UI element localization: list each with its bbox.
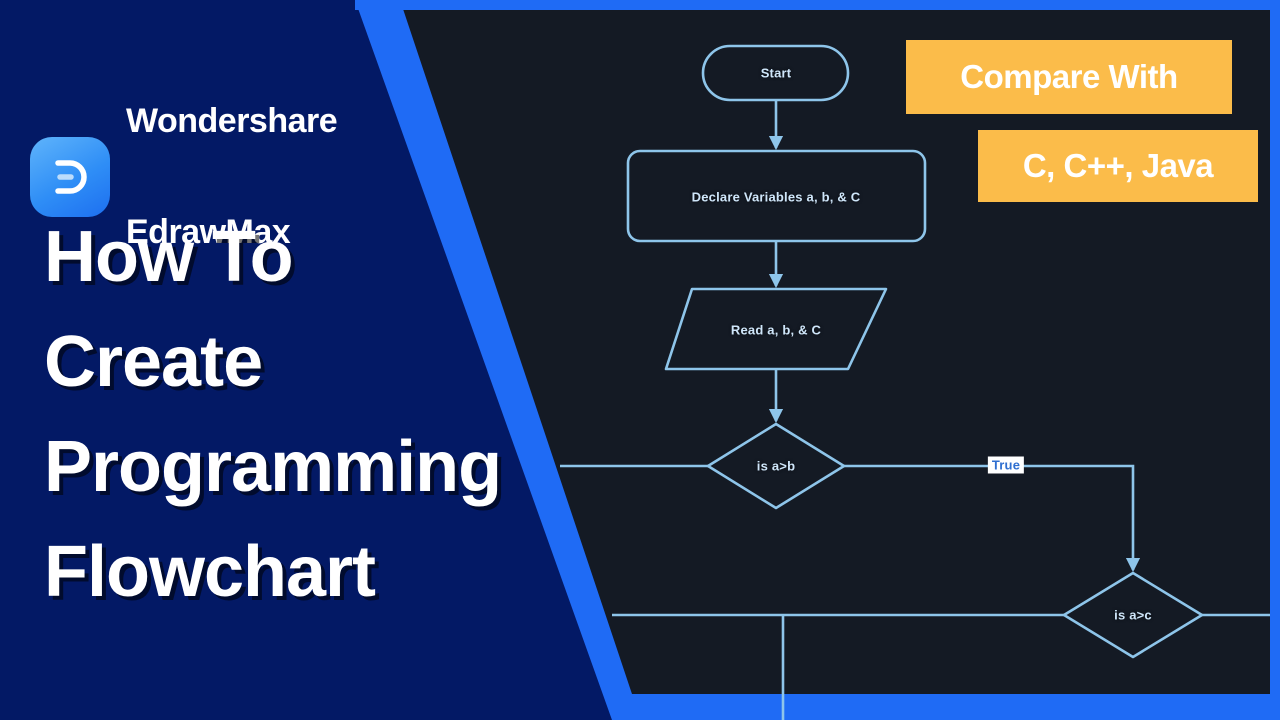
title-line-3: Programming [44, 415, 604, 520]
brand-company: Wondershare [126, 103, 337, 140]
node-decision-ab-label: is a>b [757, 459, 795, 474]
badge-compare-with: Compare With [906, 40, 1232, 114]
node-start-label: Start [761, 66, 792, 81]
top-accent-bar [355, 0, 1280, 10]
title-line-1: How To [44, 205, 604, 310]
edge-label-true: True [988, 457, 1024, 474]
badge-languages: C, C++, Java [978, 130, 1258, 202]
page-title: How To Create Programming Flowchart [44, 205, 604, 625]
title-line-4: Flowchart [44, 520, 604, 625]
node-declare-label: Declare Variables a, b, & C [692, 190, 861, 205]
video-thumbnail: Wondershare EdrawMax How To Create Progr… [0, 0, 1280, 720]
node-read-label: Read a, b, & C [731, 323, 821, 338]
right-accent-bar [1270, 0, 1280, 720]
title-line-2: Create [44, 310, 604, 415]
node-decision-ac-label: is a>c [1114, 608, 1152, 623]
